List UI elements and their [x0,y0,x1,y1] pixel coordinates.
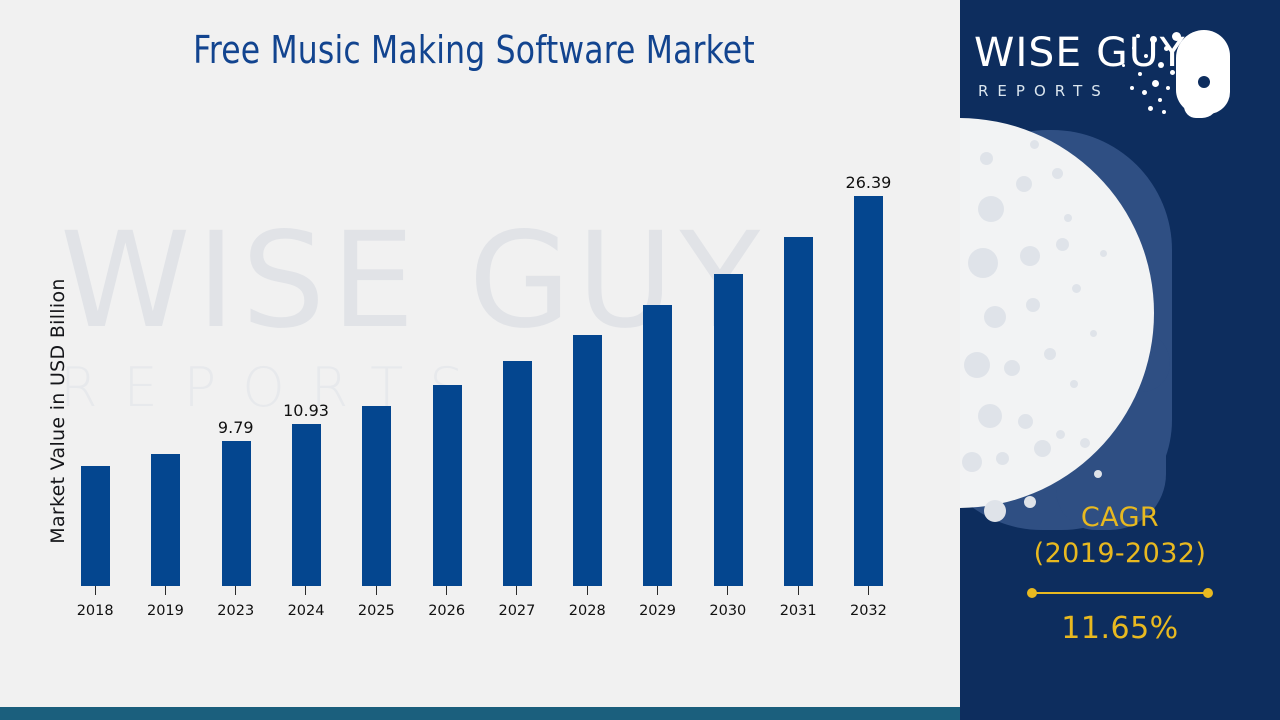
decorative-dot [1056,238,1069,251]
bar [222,441,251,586]
decorative-dot [1020,246,1040,266]
decorative-dot [1080,438,1090,448]
x-axis-tick [727,586,728,595]
logo-head-notch-shape [1198,76,1210,88]
brand-panel: WISE GUY REPORTS CAGR (2019-2032) 11.65% [960,0,1280,720]
cagr-divider-line [1033,592,1207,594]
decorative-dot [996,452,1009,465]
bar [362,406,391,586]
x-axis-tick [376,586,377,595]
x-axis-tick-label: 2029 [622,603,692,619]
decorative-dot [1016,176,1032,192]
bar-group: 2030 [693,150,763,586]
x-axis-tick [235,586,236,595]
bar-group: 2025 [341,150,411,586]
bar [292,424,321,586]
decorative-dot [978,404,1002,428]
cagr-range: (2019-2032) [960,536,1280,572]
bar-group: 2027 [482,150,552,586]
bar [643,305,672,586]
bar-group: 9.792023 [201,150,271,586]
logo-subtitle: REPORTS [978,82,1110,100]
x-axis-tick-label: 2027 [482,603,552,619]
logo-head-chin-shape [1184,92,1218,118]
logo-decorative-dot [1122,64,1125,67]
bottom-accent-strip [0,707,962,720]
decorative-dot [964,352,990,378]
logo-decorative-dot [1178,56,1182,60]
decorative-dot [978,196,1004,222]
decorative-dot [962,452,982,472]
logo-decorative-dot [1130,86,1134,90]
cagr-block: CAGR (2019-2032) 11.65% [960,500,1280,646]
bar [433,385,462,586]
decorative-dot [1094,470,1102,478]
logo-decorative-dot [1158,62,1164,68]
x-axis-tick-label: 2025 [341,603,411,619]
bar [573,335,602,586]
decorative-dot [1064,214,1072,222]
decorative-dot [1052,168,1063,179]
x-axis-tick [305,586,306,595]
logo-decorative-dot [1186,42,1191,47]
bar-group: 26.392032 [833,150,903,586]
bar [714,274,743,586]
x-axis-tick [516,586,517,595]
x-axis-tick-label: 2030 [693,603,763,619]
decorative-dot [1004,360,1020,376]
x-axis-tick [165,586,166,595]
logo-decorative-dot [1132,46,1136,50]
logo-decorative-dot [1144,54,1148,58]
decorative-dot [1056,430,1065,439]
bar-chart-plot-area: 201820199.79202310.932024202520262027202… [60,150,930,586]
x-axis-tick-label: 2019 [130,603,200,619]
decorative-dot [1044,348,1056,360]
x-axis-tick-label: 2031 [763,603,833,619]
decorative-dot [984,306,1006,328]
bar [784,237,813,586]
logo-decorative-dot [1148,106,1153,111]
logo-decorative-dot [1150,36,1157,43]
logo-decorative-dot [1164,46,1169,51]
bar-group: 2031 [763,150,833,586]
cagr-value: 11.65% [960,611,1280,646]
x-axis-tick [446,586,447,595]
bar [854,196,883,586]
x-axis-tick [95,586,96,595]
bar [81,466,110,586]
logo-decorative-dot [1170,70,1175,75]
x-axis-tick-label: 2026 [412,603,482,619]
cagr-label: CAGR [960,500,1280,536]
logo-decorative-dot [1136,34,1140,38]
bar-group: 10.932024 [271,150,341,586]
decorative-dot [1100,250,1107,257]
logo-decorative-dot [1166,86,1170,90]
x-axis-tick-label: 2032 [833,603,903,619]
wiseguy-reports-logo: WISE GUY REPORTS [972,26,1272,118]
bar-group: 2018 [60,150,130,586]
logo-decorative-dot [1172,32,1181,41]
x-axis-tick-label: 2028 [552,603,622,619]
logo-decorative-dot [1152,80,1159,87]
decorative-dot [1034,440,1051,457]
chart-panel: WISE GUY REPORTS Free Music Making Softw… [0,0,962,720]
bar-value-label: 9.79 [201,418,271,437]
bar-group: 2019 [130,150,200,586]
x-axis-tick-label: 2018 [60,603,130,619]
x-axis-tick-label: 2023 [201,603,271,619]
decorative-dot [1072,284,1081,293]
bar-value-label: 26.39 [833,173,903,192]
logo-decorative-dot [1162,110,1166,114]
bar-group: 2026 [412,150,482,586]
decorative-dot [1070,380,1078,388]
logo-decorative-dot [1142,90,1147,95]
decorative-dot [1030,140,1039,149]
cagr-divider [1027,587,1213,599]
x-axis-tick [657,586,658,595]
decorative-dot [1090,330,1097,337]
decorative-dot [980,152,993,165]
logo-decorative-dot [1138,72,1142,76]
x-axis-tick [868,586,869,595]
infographic-canvas: WISE GUY REPORTS Free Music Making Softw… [0,0,1280,720]
logo-decorative-dot [1176,80,1181,85]
x-axis-tick [587,586,588,595]
cagr-divider-knob-right [1203,588,1213,598]
logo-head-nose-shape [1212,70,1230,88]
decorative-dot [968,248,998,278]
logo-decorative-dot [1158,98,1162,102]
bar-group: 2028 [552,150,622,586]
bar [503,361,532,586]
x-axis-tick-label: 2024 [271,603,341,619]
bar-group: 2029 [622,150,692,586]
decorative-dot [1026,298,1040,312]
page-title: Free Music Making Software Market [38,28,910,72]
x-axis-tick [798,586,799,595]
decorative-dot [1018,414,1033,429]
bar-value-label: 10.93 [271,401,341,420]
bar [151,454,180,586]
